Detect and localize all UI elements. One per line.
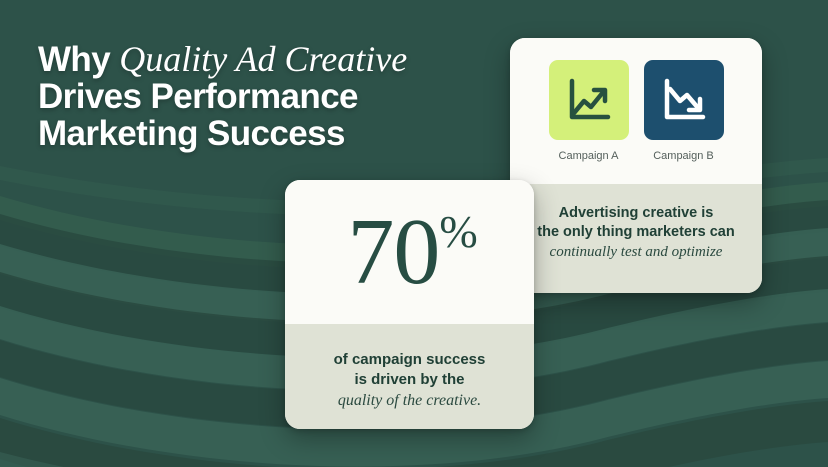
headline-italic-phrase: Quality Ad Creative — [119, 39, 407, 79]
stat-number-text: 70 — [347, 200, 439, 304]
stat-value: 70% — [341, 205, 477, 299]
stat-percent-symbol: % — [439, 206, 477, 257]
headline: Why Quality Ad Creative Drives Performan… — [38, 40, 458, 152]
campaign-b-tile[interactable] — [644, 60, 724, 140]
chart-caption-line-2: the only thing marketers can — [510, 223, 762, 242]
campaign-b-label: Campaign B — [644, 150, 724, 162]
stat-caption-line-1: of campaign success — [285, 350, 534, 370]
trend-down-icon — [658, 74, 710, 126]
headline-line-3: Marketing Success — [38, 115, 458, 152]
campaign-caption-section: Advertising creative is the only thing m… — [510, 184, 762, 293]
campaign-tiles: Campaign A Campaign B — [510, 60, 762, 162]
stat-card: 70% of campaign success is driven by the… — [285, 180, 534, 429]
chart-caption-line-1: Advertising creative is — [510, 204, 762, 223]
campaign-comparison-card: Campaign A Campaign B Advertising creati… — [510, 38, 762, 293]
stat-caption-italic: quality of the creative. — [285, 392, 534, 410]
chart-caption-italic: continually test and optimize — [510, 244, 762, 261]
campaign-a-label: Campaign A — [549, 150, 629, 162]
headline-line-2: Drives Performance — [38, 78, 458, 115]
campaign-b-tile-group[interactable]: Campaign B — [644, 60, 724, 162]
headline-bold-word: Why — [38, 40, 110, 79]
stat-caption-line-2: is driven by the — [285, 370, 534, 390]
campaign-tiles-section: Campaign A Campaign B — [510, 38, 762, 184]
campaign-a-tile-group[interactable]: Campaign A — [549, 60, 629, 162]
trend-up-icon — [563, 74, 615, 126]
infographic-canvas: Why Quality Ad Creative Drives Performan… — [0, 0, 828, 467]
campaign-a-tile[interactable] — [549, 60, 629, 140]
stat-value-section: 70% — [285, 180, 534, 324]
headline-line-1: Why Quality Ad Creative — [38, 40, 458, 78]
stat-caption-section: of campaign success is driven by the qua… — [285, 324, 534, 429]
